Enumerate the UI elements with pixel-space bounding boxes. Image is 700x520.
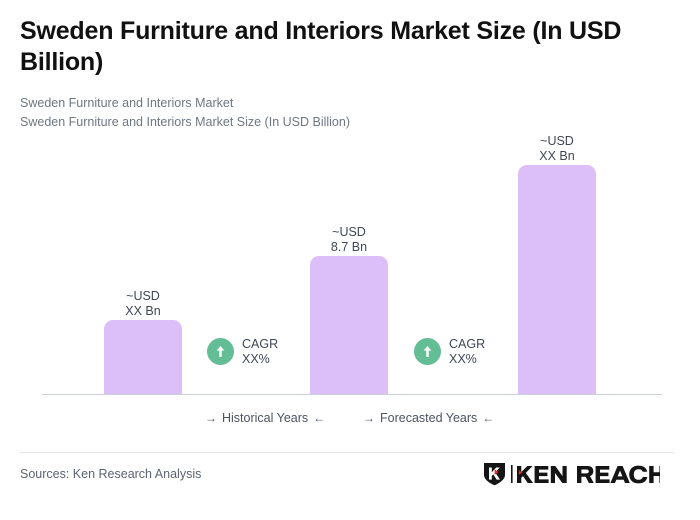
bar-base[interactable] (310, 256, 388, 394)
period-label-text: Historical Years (222, 411, 308, 425)
period-label-text: Forecasted Years (380, 411, 477, 425)
cagr-line-2: XX% (242, 352, 278, 367)
cagr-text: CAGR XX% (449, 337, 485, 366)
bar-value-label-forecast: ~USD XX Bn (497, 134, 617, 163)
bar-value-line-1: ~USD (289, 225, 409, 240)
arrow-right-icon: → (358, 411, 380, 425)
period-label-historical: →Historical Years← (200, 408, 330, 428)
x-axis-line (42, 394, 662, 395)
bar-value-line-2: 8.7 Bn (289, 240, 409, 255)
period-label-forecasted: →Forecasted Years← (358, 408, 499, 428)
bar-value-line-1: ~USD (497, 134, 617, 149)
ken-research-logo (482, 462, 660, 486)
arrow-right-icon: → (200, 411, 222, 425)
cagr-badge-forecast: CAGR XX% (414, 337, 485, 366)
bar-value-label-base: ~USD 8.7 Bn (289, 225, 409, 254)
subtitle-line-1: Sweden Furniture and Interiors Market (20, 94, 670, 113)
period-labels: →Historical Years← →Forecasted Years← (0, 408, 700, 432)
cagr-text: CAGR XX% (242, 337, 278, 366)
cagr-badge-historical: CAGR XX% (207, 337, 278, 366)
cagr-line-1: CAGR (242, 337, 278, 352)
chart-plot-area: ~USD XX Bn ~USD 8.7 Bn ~USD XX Bn (0, 120, 700, 405)
arrow-left-icon: ← (477, 411, 499, 425)
bar-value-line-2: XX Bn (83, 304, 203, 319)
bar-value-line-1: ~USD (83, 289, 203, 304)
chart-header: Sweden Furniture and Interiors Market Si… (20, 16, 670, 132)
cagr-line-1: CAGR (449, 337, 485, 352)
bar-value-label-historical: ~USD XX Bn (83, 289, 203, 318)
chart-card: Sweden Furniture and Interiors Market Si… (0, 0, 700, 520)
arrow-up-icon (414, 338, 441, 365)
arrow-up-icon (207, 338, 234, 365)
cagr-line-2: XX% (449, 352, 485, 367)
page-title: Sweden Furniture and Interiors Market Si… (20, 16, 670, 78)
bar-forecast[interactable] (518, 165, 596, 394)
bar-historical[interactable] (104, 320, 182, 394)
sources-text: Sources: Ken Research Analysis (20, 465, 201, 483)
arrow-left-icon: ← (308, 411, 330, 425)
footer-divider (20, 452, 674, 453)
bar-value-line-2: XX Bn (497, 149, 617, 164)
